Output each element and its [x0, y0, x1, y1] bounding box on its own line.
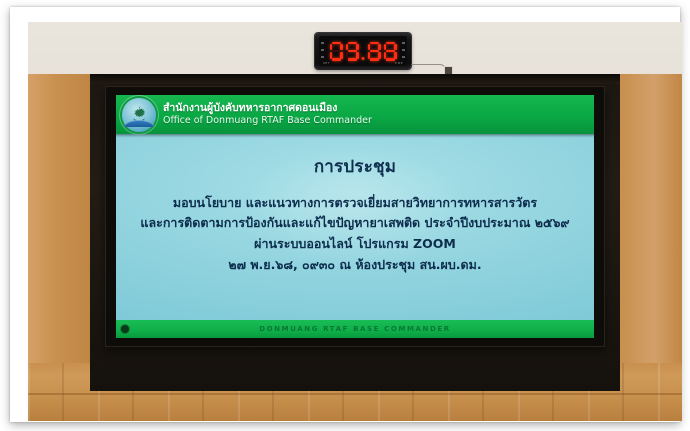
slide-line-1: มอบนโยบาย และแนวทางการตรวจเยี่ยมสายวิทยา…: [173, 193, 537, 212]
slide-line-2: และการติดตามการป้องกันและแก้ไขปัญหายาเสพ…: [140, 213, 569, 232]
presentation-slide: สำนักงานผู้บังคับทหารอากาศดอนเมือง Offic…: [116, 95, 594, 338]
slide-line-4: ๒๗ พ.ย.๖๘, ๐๙๓๐ ณ ห้องประชุม สน.ผบ.ดม.: [228, 255, 481, 274]
slide-footer: DONMUANG RTAF BASE COMMANDER: [116, 320, 594, 338]
clock-indicator-lights-right: [402, 40, 405, 60]
seg-digit: [346, 42, 359, 61]
clock-label-left: SET: [323, 61, 330, 65]
photo-frame: SET TIME: [10, 7, 680, 422]
slide-footer-text: DONMUANG RTAF BASE COMMANDER: [116, 325, 594, 333]
clock-colon: [362, 57, 365, 60]
clock-indicator-lights-left: [321, 40, 324, 60]
clock-power-cable: [411, 64, 446, 74]
slide-body: การประชุม มอบนโยบาย และแนวทางการตรวจเยี่…: [116, 134, 594, 320]
display-screen: สำนักงานผู้บังคับทหารอากาศดอนเมือง Offic…: [116, 95, 594, 338]
slide-line-3: ผ่านระบบออนไลน์ โปรแกรม ZOOM: [254, 234, 456, 253]
rtaf-garuda-emblem-icon: [122, 98, 156, 132]
wood-panel-right: [620, 74, 682, 391]
org-name-thai: สำนักงานผู้บังคับทหารอากาศดอนเมือง: [163, 103, 372, 114]
display-bezel: สำนักงานผู้บังคับทหารอากาศดอนเมือง Offic…: [105, 86, 605, 347]
clock-hours: [330, 42, 359, 61]
seg-digit: [368, 42, 381, 61]
org-name-english: Office of Donmuang RTAF Base Commander: [163, 116, 372, 126]
organization-name-block: สำนักงานผู้บังคับทหารอากาศดอนเมือง Offic…: [163, 103, 372, 127]
seg-digit: [330, 42, 343, 61]
clock-face: SET TIME: [319, 36, 407, 66]
slide-header: สำนักงานผู้บังคับทหารอากาศดอนเมือง Offic…: [116, 95, 594, 134]
clock-label-right: TIME: [394, 61, 403, 65]
slide-title: การประชุม: [314, 153, 396, 180]
screenshot-stage: SET TIME: [0, 0, 690, 431]
seg-digit: [384, 42, 397, 61]
screen-alcove: สำนักงานผู้บังคับทหารอากาศดอนเมือง Offic…: [90, 74, 620, 391]
room-photo: SET TIME: [28, 22, 682, 421]
floor-seam: [28, 393, 682, 395]
alcove-top-shadow: [90, 74, 620, 84]
wood-panel-left: [28, 74, 90, 391]
digital-wall-clock: SET TIME: [315, 33, 411, 69]
clock-minutes: [368, 42, 397, 61]
